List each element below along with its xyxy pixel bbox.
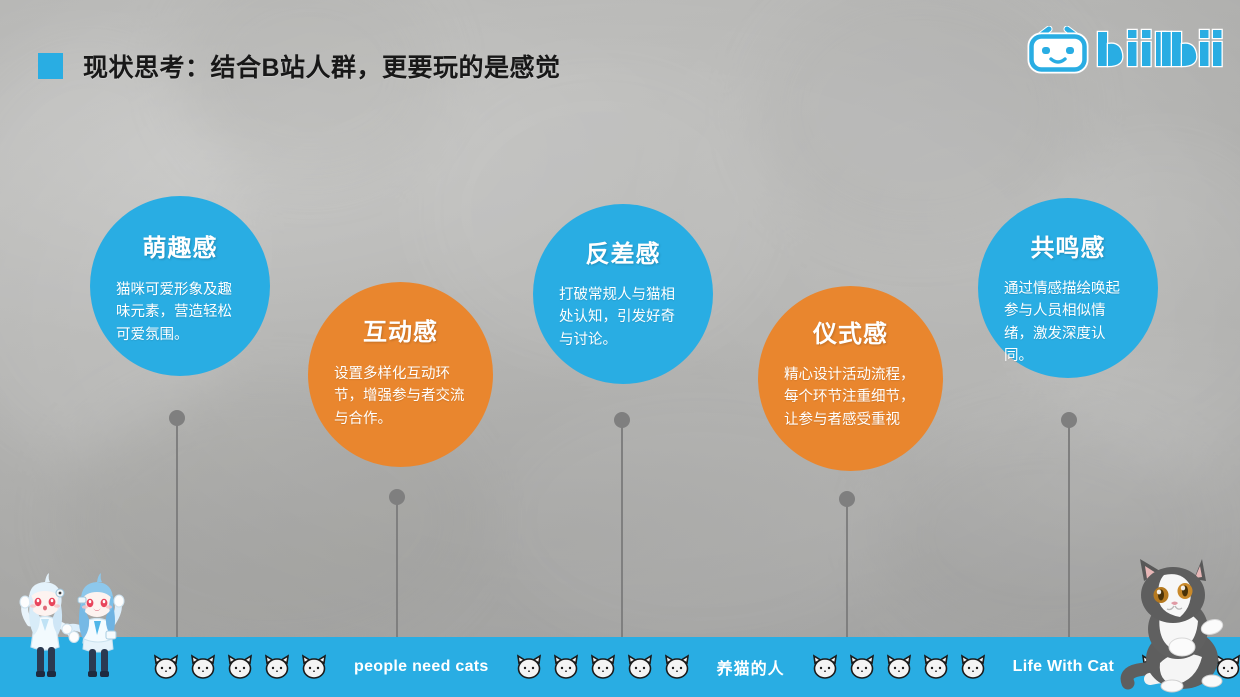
bubble-body: 精心设计活动流程，每个环节注重细节，让参与者感受重视 [784, 364, 917, 431]
connector-dot-4 [839, 491, 855, 507]
cat-face-icon [663, 654, 691, 680]
connector-line-4 [846, 499, 848, 648]
bilibili-mascots-illustration [8, 571, 156, 691]
cat-face-icon [959, 654, 987, 680]
footer-label-life-with-cat: Life With Cat [987, 658, 1141, 676]
page-title: 现状思考：结合B站人群，更要玩的是感觉 [83, 48, 561, 84]
footer-band: people need cats 养猫的人 Life With Cat [0, 637, 1240, 697]
bubble-body: 通过情感描绘唤起参与人员相似情绪，激发深度认同。 [1002, 278, 1134, 368]
slide-title-row: 现状思考：结合B站人群，更要玩的是感觉 [38, 48, 561, 84]
connector-line-1 [176, 418, 178, 648]
bubble-title: 仪式感 [813, 314, 888, 349]
bubble-yi-shi-gan[interactable]: 仪式感 精心设计活动流程，每个环节注重细节，让参与者感受重视 [758, 286, 943, 471]
cat-icon-group-3 [811, 654, 987, 680]
bubble-fan-cha-gan[interactable]: 反差感 打破常规人与猫相处认知，引发好奇与讨论。 [533, 204, 713, 384]
footer-label-yang-mao-de-ren: 养猫的人 [691, 655, 811, 679]
cat-face-icon [811, 654, 839, 680]
connector-line-2 [396, 497, 398, 648]
cat-icon-group-1 [152, 654, 328, 680]
bubble-title: 共鸣感 [1031, 228, 1106, 263]
connector-line-3 [621, 420, 623, 648]
cat-face-icon [589, 654, 617, 680]
cat-illustration [1120, 555, 1232, 697]
connector-dot-2 [389, 489, 405, 505]
cat-face-icon [848, 654, 876, 680]
cat-face-icon [226, 654, 254, 680]
cat-face-icon [263, 654, 291, 680]
bubble-title: 互动感 [363, 312, 438, 347]
cat-face-icon [152, 654, 180, 680]
cat-face-icon [515, 654, 543, 680]
bubble-body: 设置多样化互动环节，增强参与者交流与合作。 [332, 363, 469, 430]
slide-canvas: 现状思考：结合B站人群，更要玩的是感觉 [0, 0, 1240, 697]
cat-face-icon [300, 654, 328, 680]
connector-line-5 [1068, 420, 1070, 648]
bilibili-tv-icon [1027, 26, 1089, 74]
cat-face-icon [189, 654, 217, 680]
bubble-title: 萌趣感 [143, 228, 218, 263]
cat-icon-group-2 [515, 654, 691, 680]
cat-face-icon [885, 654, 913, 680]
bubble-gong-ming-gan[interactable]: 共鸣感 通过情感描绘唤起参与人员相似情绪，激发深度认同。 [978, 198, 1158, 378]
bilibili-logo [1027, 26, 1224, 74]
connector-dot-1 [169, 410, 185, 426]
bubble-meng-qu-gan[interactable]: 萌趣感 猫咪可爱形象及趣味元素，营造轻松可爱氛围。 [90, 196, 270, 376]
connector-dot-3 [614, 412, 630, 428]
cat-face-icon [626, 654, 654, 680]
cat-face-icon [552, 654, 580, 680]
cat-face-icon [922, 654, 950, 680]
bubble-body: 猫咪可爱形象及趣味元素，营造轻松可爱氛围。 [114, 279, 246, 346]
title-accent-square [38, 53, 63, 79]
connector-dot-5 [1061, 412, 1077, 428]
bubble-hu-dong-gan[interactable]: 互动感 设置多样化互动环节，增强参与者交流与合作。 [308, 282, 493, 467]
bubble-title: 反差感 [586, 234, 661, 269]
bilibili-wordmark [1096, 28, 1224, 72]
bubble-body: 打破常规人与猫相处认知，引发好奇与讨论。 [557, 284, 689, 351]
footer-label-people-need-cats: people need cats [328, 658, 515, 676]
